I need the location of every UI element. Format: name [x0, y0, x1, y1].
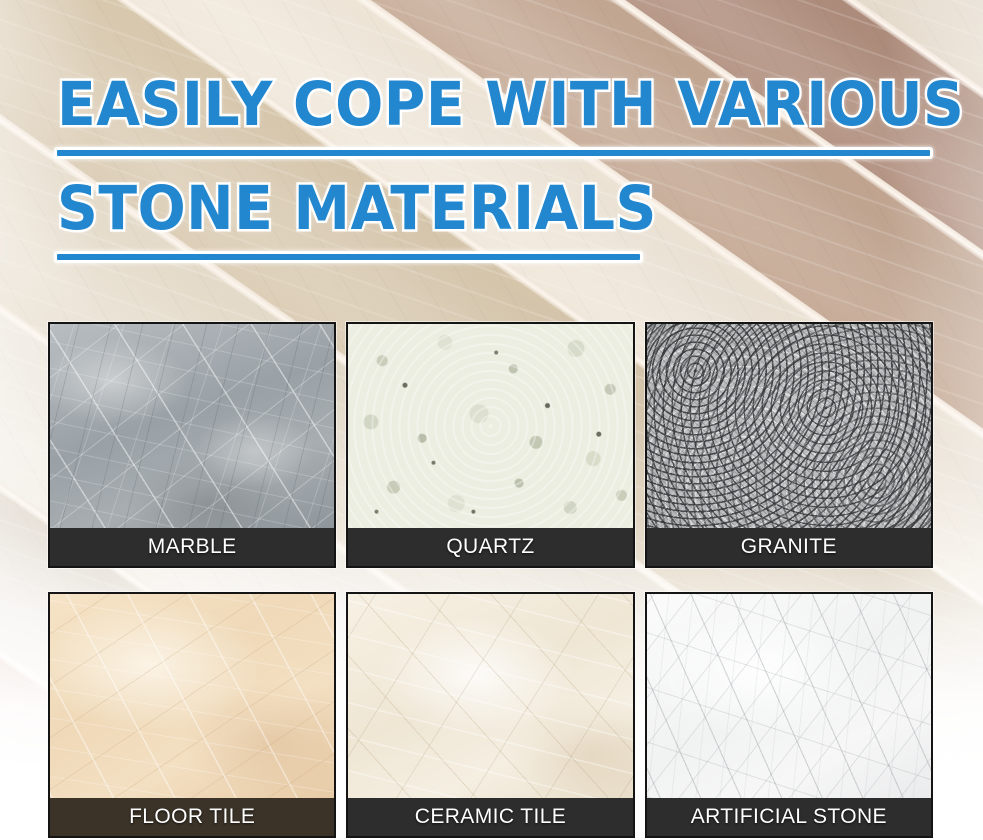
material-tile-ceramic-tile[interactable]: CERAMIC TILE: [346, 592, 634, 838]
headline-underline-2: [57, 254, 640, 260]
material-tile-marble[interactable]: MARBLE: [48, 322, 336, 568]
material-label-ceramic-tile: CERAMIC TILE: [348, 798, 632, 836]
material-swatch-artificial-stone: [647, 594, 931, 798]
material-label-quartz: QUARTZ: [348, 528, 632, 566]
headline-block: EASILY COPE WITH VARIOUS STONE MATERIALS: [57, 74, 937, 260]
materials-grid: MARBLE QUARTZ GRANITE FLOOR TILE CERAMIC…: [48, 322, 933, 838]
material-label-marble: MARBLE: [50, 528, 334, 566]
material-swatch-quartz: [348, 324, 632, 528]
material-swatch-ceramic-tile: [348, 594, 632, 798]
material-tile-quartz[interactable]: QUARTZ: [346, 322, 634, 568]
material-tile-artificial-stone[interactable]: ARTIFICIAL STONE: [645, 592, 933, 838]
headline-underline-1: [57, 150, 930, 156]
material-swatch-marble: [50, 324, 334, 528]
material-tile-granite[interactable]: GRANITE: [645, 322, 933, 568]
material-tile-floor-tile[interactable]: FLOOR TILE: [48, 592, 336, 838]
headline-line-1: EASILY COPE WITH VARIOUS: [57, 74, 875, 136]
material-swatch-floor-tile: [50, 594, 334, 798]
headline-line-2: STONE MATERIALS: [57, 178, 875, 240]
banner-root: EASILY COPE WITH VARIOUS STONE MATERIALS…: [0, 0, 983, 840]
material-swatch-granite: [647, 324, 931, 528]
material-label-floor-tile: FLOOR TILE: [50, 798, 334, 836]
material-label-artificial-stone: ARTIFICIAL STONE: [647, 798, 931, 836]
material-label-granite: GRANITE: [647, 528, 931, 566]
